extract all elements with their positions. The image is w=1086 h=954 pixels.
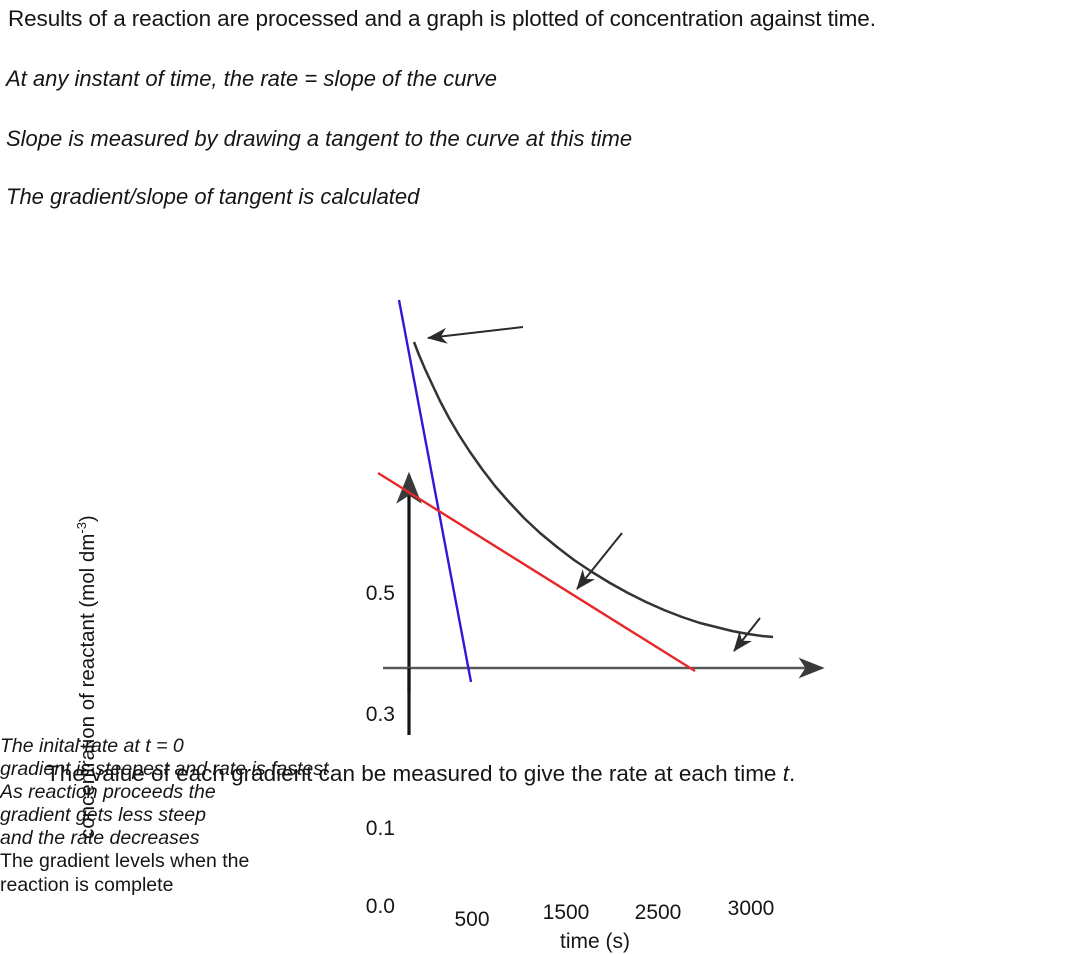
reactant-concentration-curve	[414, 342, 773, 637]
x-tick-label-500: 500	[440, 908, 504, 932]
annotation-arrow-rate-decreases	[577, 533, 622, 589]
statement-slope-measured-by-tangent: Slope is measured by drawing a tangent t…	[6, 126, 632, 152]
y-tick-label-0-1: 0.1	[339, 817, 395, 841]
statement-gradient-calculated: The gradient/slope of tangent is calcula…	[6, 184, 419, 210]
statement-rate-equals-slope: At any instant of time, the rate = slope…	[6, 66, 497, 92]
x-tick-label-3000: 3000	[715, 897, 787, 921]
annotation-initial-rate: The inital rate at t = 0 gradient is ste…	[0, 735, 1086, 781]
annotation-arrow-initial-rate	[428, 327, 523, 338]
y-tick-label-0-5: 0.5	[339, 582, 395, 606]
y-axis-title: concentration of reactant (mol dm-3)	[76, 539, 100, 839]
statement-intro: Results of a reaction are processed and …	[8, 6, 876, 32]
y-tick-label-0-3: 0.3	[339, 703, 395, 727]
annotation-reaction-complete: The gradient levels when the reaction is…	[0, 850, 1086, 898]
annotation-rate-decreases: As reaction proceeds the gradient gets l…	[0, 781, 1086, 850]
y-tick-label-0-0: 0.0	[339, 895, 395, 919]
y-axis-title-text: concentration of reactant (mol dm	[76, 534, 99, 839]
concentration-time-graph: 0.5 0.3 0.1 0.0 500 1500 2500 3000 time …	[0, 225, 1086, 735]
y-axis-title-exponent: -3	[74, 522, 89, 534]
y-axis-title-tail: )	[76, 515, 99, 522]
x-tick-label-2500: 2500	[622, 901, 694, 925]
x-axis-title: time (s)	[530, 930, 660, 954]
tangent-line-later	[378, 473, 695, 671]
x-tick-label-1500: 1500	[530, 901, 602, 925]
graph-canvas	[0, 225, 1086, 735]
